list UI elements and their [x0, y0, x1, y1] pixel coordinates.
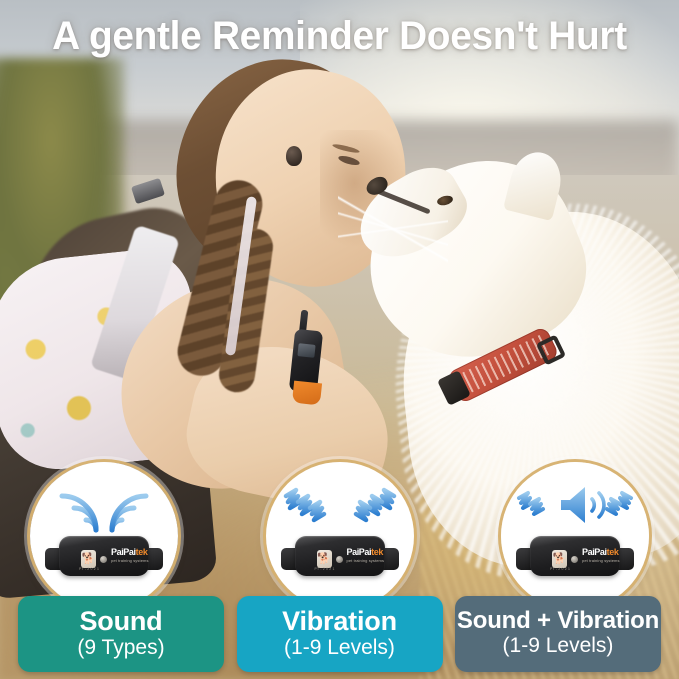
device-led: [571, 556, 578, 563]
dog-logo-icon: 🐕: [317, 550, 332, 568]
feature-label-row: Sound (9 Types) Vibration (1-9 Levels) S…: [0, 596, 679, 672]
collar-device: 🐕 PaiPaitek pet training systems PT - 2 …: [45, 534, 163, 578]
device-body: 🐕 PaiPaitek pet training systems PT - 2 …: [530, 536, 620, 576]
device-model: PT - 2 0 2 1: [315, 568, 335, 571]
remote-grip: [292, 381, 322, 406]
label-title: Sound + Vibration: [457, 608, 659, 634]
feature-circle-row: 🐕 PaiPaitek pet training systems PT - 2 …: [0, 462, 679, 612]
remote-screen: [297, 343, 315, 358]
label-pill-vibration[interactable]: Vibration (1-9 Levels): [237, 596, 443, 672]
collar-device: 🐕 PaiPaitek pet training systems PT - 2 …: [516, 534, 634, 578]
feature-circle-sound[interactable]: 🐕 PaiPaitek pet training systems PT - 2 …: [30, 462, 178, 610]
device-tagline: pet training systems: [582, 559, 620, 563]
earbud: [286, 146, 302, 166]
device-tagline: pet training systems: [111, 559, 149, 563]
label-title: Vibration: [282, 607, 397, 636]
vibration-zigzag-icon: [266, 462, 414, 536]
brand-part-2: tek: [607, 547, 619, 557]
device-brand: PaiPaitek: [582, 548, 618, 557]
brand-part-1: PaiPai: [582, 547, 607, 557]
collar-device: 🐕 PaiPaitek pet training systems PT - 2 …: [281, 534, 399, 578]
dog-logo-icon: 🐕: [552, 550, 567, 568]
sound-waves-icon: [30, 462, 178, 536]
device-led: [336, 556, 343, 563]
label-pill-sound-plus-vibration[interactable]: Sound + Vibration (1-9 Levels): [455, 596, 661, 672]
brand-part-2: tek: [371, 547, 383, 557]
device-tagline: pet training systems: [347, 559, 385, 563]
device-brand: PaiPaitek: [347, 548, 383, 557]
dog-whiskers: [338, 168, 448, 288]
device-body: 🐕 PaiPaitek pet training systems PT - 2 …: [295, 536, 385, 576]
device-model: PT - 2 0 2 1: [550, 568, 570, 571]
device-brand: PaiPaitek: [111, 548, 147, 557]
dog-logo-icon: 🐕: [81, 550, 96, 568]
brand-part-1: PaiPai: [347, 547, 372, 557]
label-pill-sound[interactable]: Sound (9 Types): [18, 596, 224, 672]
feature-circle-sound-plus-vibration[interactable]: 🐕 PaiPaitek pet training systems PT - 2 …: [501, 462, 649, 610]
label-subtitle: (1-9 Levels): [503, 634, 614, 658]
label-subtitle: (9 Types): [77, 636, 164, 660]
device-model: PT - 2 0 2 1: [79, 568, 99, 571]
feature-circle-vibration[interactable]: 🐕 PaiPaitek pet training systems PT - 2 …: [266, 462, 414, 610]
page-title: A gentle Reminder Doesn't Hurt: [10, 8, 669, 64]
speaker-with-vibration-icon: [501, 462, 649, 536]
brand-part-1: PaiPai: [111, 547, 136, 557]
device-led: [100, 556, 107, 563]
infographic-banner: A gentle Reminder Doesn't Hurt: [0, 0, 679, 679]
label-title: Sound: [80, 607, 163, 636]
label-subtitle: (1-9 Levels): [284, 636, 395, 660]
brand-part-2: tek: [136, 547, 148, 557]
device-body: 🐕 PaiPaitek pet training systems PT - 2 …: [59, 536, 149, 576]
